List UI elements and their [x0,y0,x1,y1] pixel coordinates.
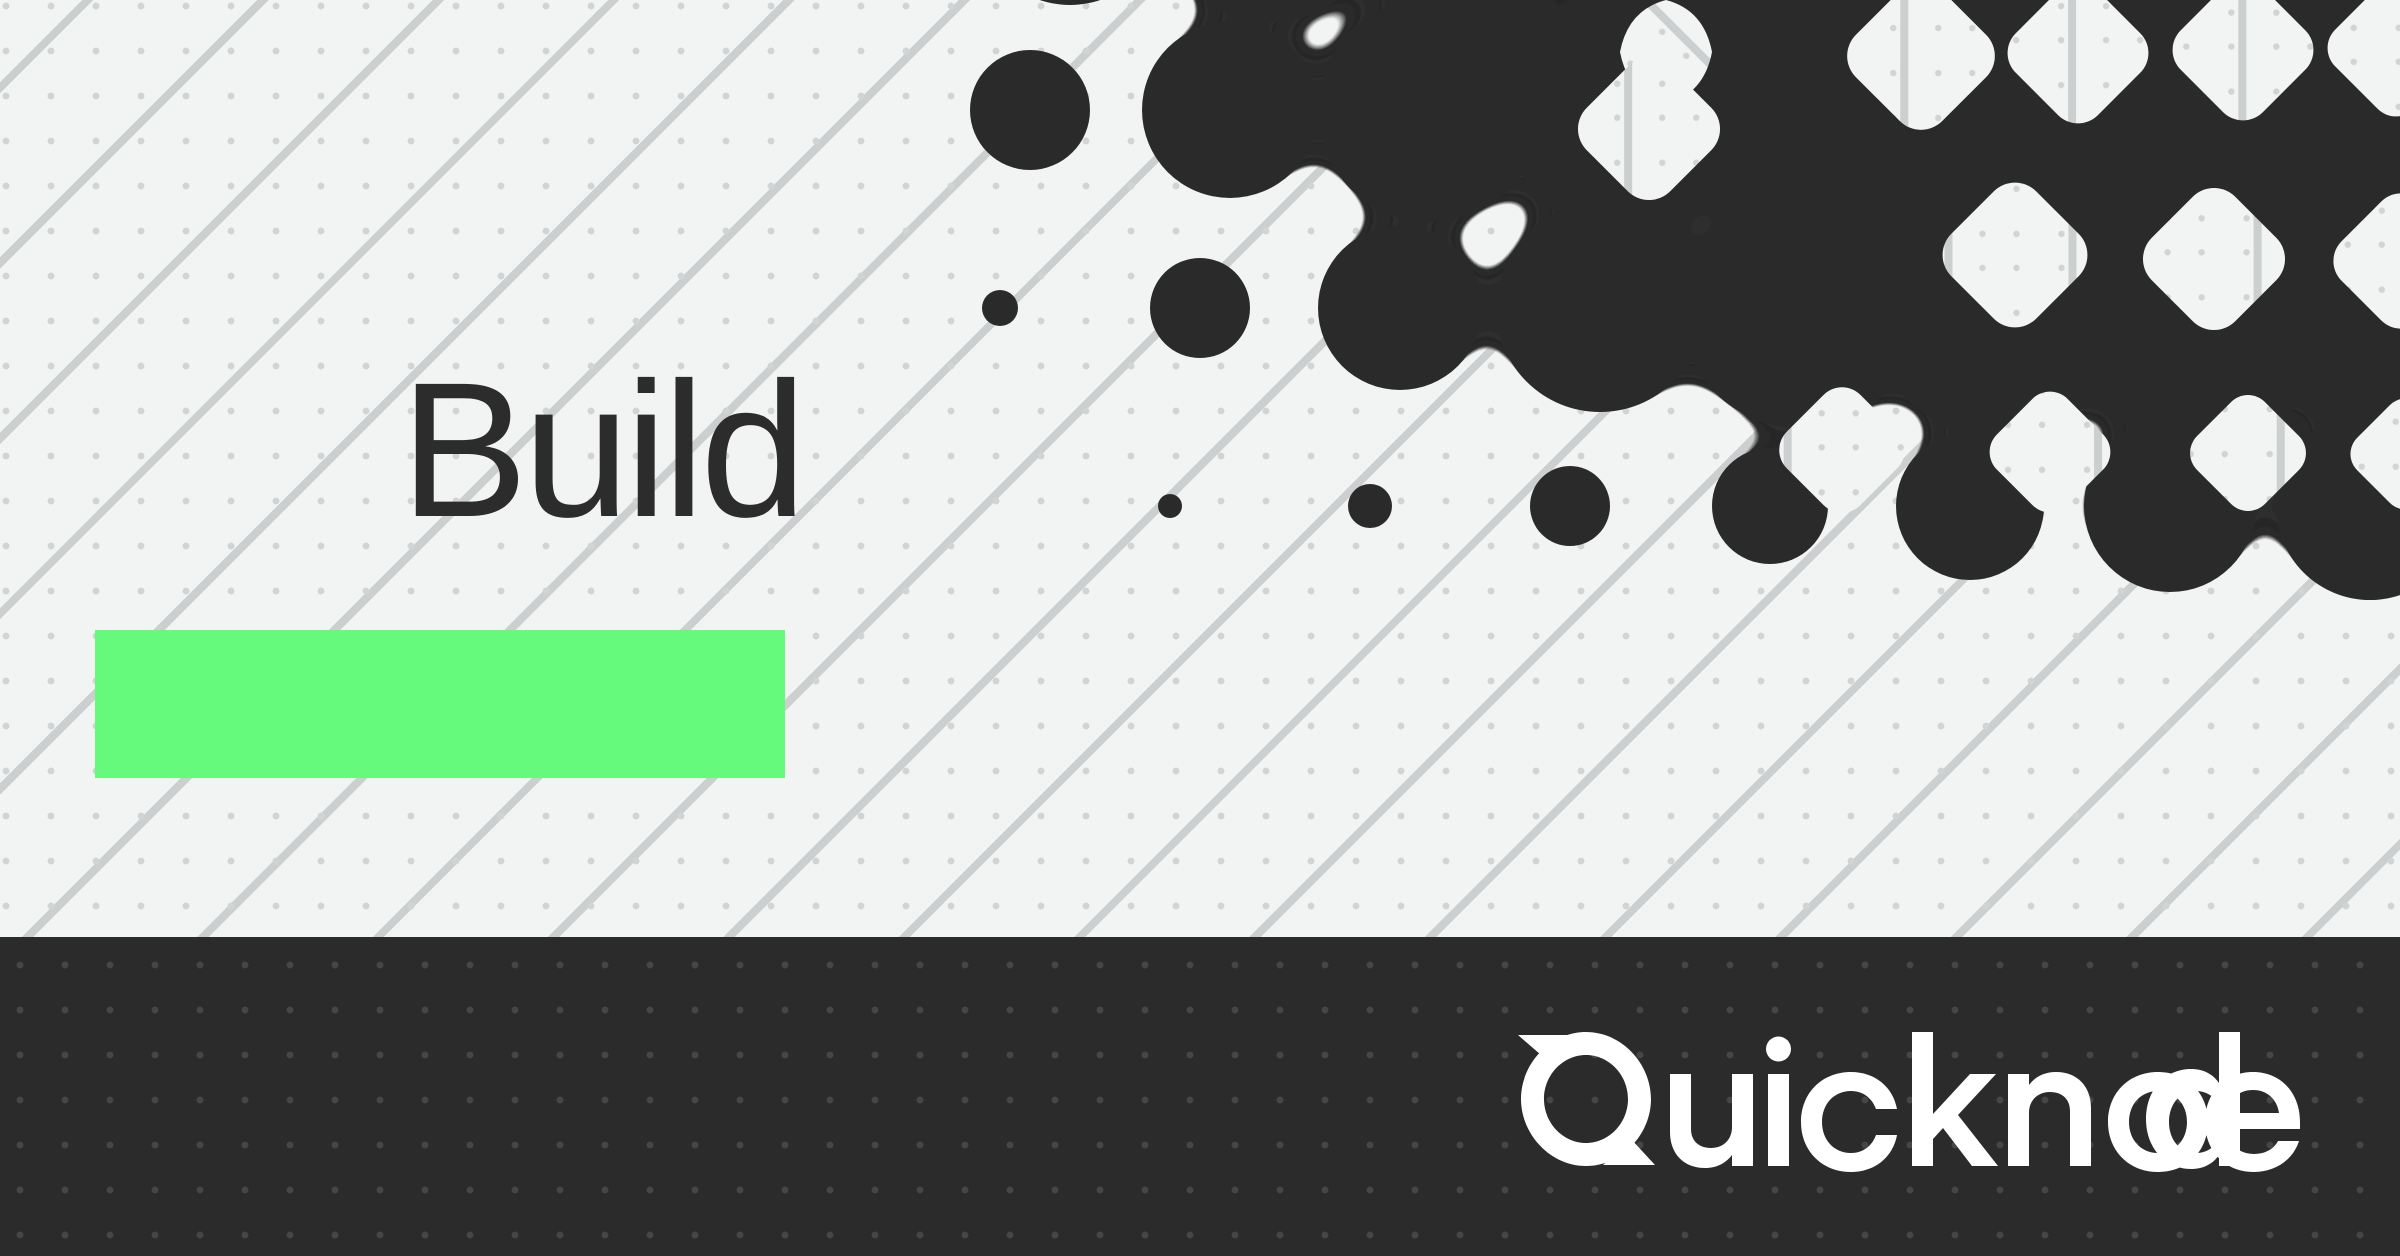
headline-highlight-without [95,630,785,778]
footer-bar [0,937,2400,1256]
quicknode-wordmark [1670,1032,2300,1172]
quicknode-q-mark [1518,1032,1655,1166]
headline-line-build-text: Build [400,342,802,557]
quicknode-hero-banner: Build Without Compromise [0,0,2400,1256]
headline-line-build: Build [110,228,1438,672]
quicknode-logo-svg [1510,1022,2300,1172]
quicknode-logo [1510,1022,2300,1172]
